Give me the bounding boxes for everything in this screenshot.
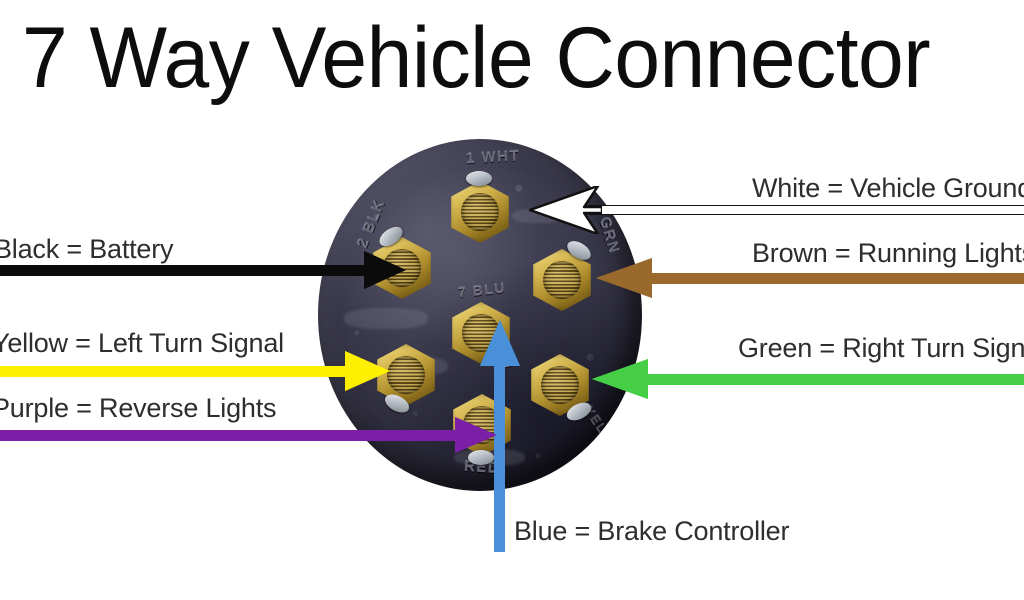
arrow-purple [0, 430, 520, 441]
arrow-white [528, 204, 1024, 216]
terminal-brown [530, 249, 594, 311]
terminal-bore [541, 366, 578, 403]
arrow-white-shaft [588, 205, 1024, 215]
terminal-screw [466, 171, 492, 186]
legend-label-purple: Purple = Reverse Lights [0, 393, 276, 424]
terminal-bore [461, 193, 498, 230]
arrow-black-head-overlay [364, 251, 406, 289]
legend-label-brown: Brown = Running Lights [752, 238, 1024, 269]
arrow-black [0, 265, 420, 276]
legend-label-yellow: Yellow = Left Turn Signal [0, 328, 284, 359]
arrow-yellow-shaft [0, 366, 360, 377]
arrow-purple-head-overlay [455, 417, 497, 453]
arrow-brown-head-overlay [596, 258, 652, 298]
page-title: 7 Way Vehicle Connector [22, 8, 987, 108]
arrow-yellow-head-overlay [345, 351, 390, 391]
arrow-green-head-overlay [592, 359, 648, 399]
arrow-white-head-overlay [528, 186, 602, 234]
terminal-green [528, 354, 592, 416]
arrow-blue-head [480, 320, 520, 366]
arrow-green-shaft [644, 374, 1024, 385]
legend-label-black: Black = Battery [0, 234, 173, 265]
arrow-purple-shaft [0, 430, 466, 441]
arrow-brown [596, 273, 1024, 284]
arrow-blue-shaft [494, 360, 505, 552]
legend-label-white: White = Vehicle Ground [752, 173, 1024, 204]
connector-scuff [344, 308, 428, 329]
arrow-black-shaft [0, 265, 378, 276]
arrow-brown-shaft [648, 273, 1024, 284]
legend-label-blue: Blue = Brake Controller [514, 516, 789, 547]
arrow-green [592, 374, 1024, 385]
terminal-white [448, 181, 512, 243]
terminal-bore [543, 261, 580, 298]
legend-label-green: Green = Right Turn Signal [738, 333, 1024, 364]
emboss-1-wht: 1 WHT [466, 148, 521, 168]
diagram-canvas: 7 Way Vehicle Connector Black = Battery … [0, 0, 1024, 600]
